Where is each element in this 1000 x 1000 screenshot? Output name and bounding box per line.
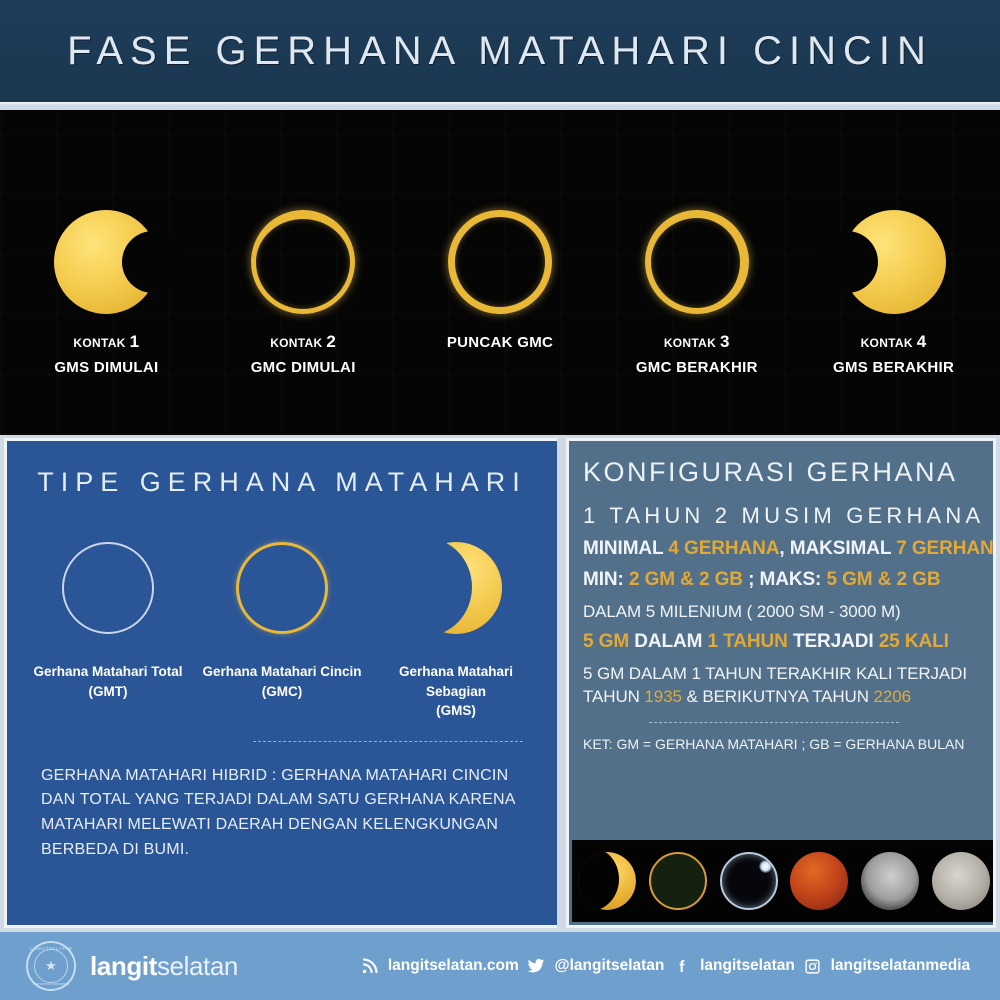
phase-kontak-label-2: KONTAK bbox=[270, 336, 322, 350]
langitselatan-seal-logo: LANGITSELATAN ★ Astronomi Indonesia bbox=[26, 941, 76, 991]
config-line-season: 1 TAHUN 2 MUSIM GERHANA bbox=[583, 502, 993, 530]
phase-kontak-label-3: KONTAK bbox=[664, 336, 716, 350]
phase-item-5: KONTAK 4 GMS BERAKHIR bbox=[804, 110, 984, 378]
total-lunar-blood-moon-photo bbox=[790, 852, 848, 910]
brand-name-light: selatan bbox=[157, 951, 238, 981]
annular-ring-icon-2 bbox=[645, 210, 749, 314]
phase-label-4: KONTAK 3 GMC BERAKHIR bbox=[636, 330, 758, 378]
facebook-icon bbox=[672, 957, 691, 976]
minmax-prefix-2: , MAKSIMAL bbox=[779, 538, 896, 559]
social-links: langitselatan.com @langitselatan langits… bbox=[356, 957, 974, 976]
type-item-gms: Gerhana Matahari Sebagian (GMS) bbox=[374, 542, 539, 721]
line5gm-gold-3: 25 KALI bbox=[879, 631, 949, 652]
minmax-gold-2: 7 GERHANA bbox=[896, 538, 996, 559]
phase-item-2: KONTAK 2 GMC DIMULAI bbox=[213, 110, 393, 378]
partial-sun-bite-left-icon bbox=[842, 210, 946, 314]
instagram-icon bbox=[803, 957, 822, 976]
minmaks-prefix-1: MIN: bbox=[583, 569, 629, 590]
solar-crescent-photo bbox=[578, 852, 636, 910]
middle-section: TIPE GERHANA MATAHARI Gerhana Matahari T… bbox=[0, 438, 1000, 928]
gold-crescent-icon bbox=[410, 542, 502, 634]
line5gm-prefix-1: DALAM bbox=[629, 631, 707, 652]
type-name-gms: Gerhana Matahari Sebagian bbox=[399, 664, 513, 699]
hybrid-note: GERHANA MATAHARI HIBRID : GERHANA MATAHA… bbox=[7, 742, 557, 863]
phase-kontak-label-1: KONTAK bbox=[73, 336, 125, 350]
config-panel-divider bbox=[649, 722, 899, 723]
annular-ring-photo bbox=[649, 852, 707, 910]
phase-item-4: KONTAK 3 GMC BERAKHIR bbox=[607, 110, 787, 378]
type-label-gms: Gerhana Matahari Sebagian (GMS) bbox=[374, 662, 539, 721]
social-label-website: langitselatan.com bbox=[388, 957, 519, 975]
line5gm-gold-2: 1 TAHUN bbox=[708, 631, 788, 652]
type-abbr-gms: (GMS) bbox=[436, 703, 476, 718]
phase-kontak-num-1: 1 bbox=[130, 332, 140, 351]
brand-block: LANGITSELATAN ★ Astronomi Indonesia lang… bbox=[26, 941, 356, 991]
phase-desc-3: PUNCAK GMC bbox=[447, 332, 553, 354]
social-link-facebook[interactable]: langitselatan bbox=[672, 957, 795, 976]
eclipse-config-panel: KONFIGURASI GERHANA 1 TAHUN 2 MUSIM GERH… bbox=[566, 438, 996, 928]
phase-label-5: KONTAK 4 GMS BERAKHIR bbox=[833, 330, 954, 378]
seal-top-text: LANGITSELATAN bbox=[28, 946, 74, 951]
social-label-facebook: langitselatan bbox=[700, 957, 795, 975]
type-name-gmt: Gerhana Matahari Total bbox=[33, 664, 182, 679]
config-line-terakhir-1: 5 GM DALAM 1 TAHUN TERAKHIR KALI TERJADI bbox=[583, 663, 993, 685]
seal-bottom-text: Astronomi Indonesia bbox=[28, 981, 74, 986]
partial-sun-bite-right-icon bbox=[54, 210, 158, 314]
phase-kontak-label-4: KONTAK bbox=[861, 336, 913, 350]
phase-desc-1: GMS DIMULAI bbox=[54, 357, 158, 379]
minmaks-gold-1: 2 GM & 2 GB bbox=[629, 569, 743, 590]
infographic-poster: FASE GERHANA MATAHARI CINCIN KONTAK 1 GM… bbox=[0, 0, 1000, 1000]
minmax-gold-1: 4 GERHANA bbox=[668, 538, 779, 559]
phase-label-2: KONTAK 2 GMC DIMULAI bbox=[251, 330, 356, 378]
eclipse-photo-strip bbox=[572, 840, 996, 922]
twitter-icon bbox=[527, 957, 546, 976]
phase-label-3: PUNCAK GMC bbox=[447, 330, 553, 354]
social-label-instagram: langitselatanmedia bbox=[831, 957, 971, 975]
type-abbr-gmt: (GMT) bbox=[89, 684, 128, 699]
brand-name-bold: langit bbox=[90, 951, 157, 981]
phase-kontak-num-3: 3 bbox=[720, 332, 730, 351]
type-label-gmt: Gerhana Matahari Total (GMT) bbox=[33, 662, 182, 701]
phase-item-3: PUNCAK GMC bbox=[410, 110, 590, 354]
types-panel-heading: TIPE GERHANA MATAHARI bbox=[7, 467, 557, 498]
config-panel-heading: KONFIGURASI GERHANA bbox=[583, 457, 993, 488]
brand-name: langitselatan bbox=[90, 951, 238, 982]
config-line-minmax: MINIMAL 4 GERHANA, MAKSIMAL 7 GERHANA bbox=[583, 537, 993, 561]
footer-bar: LANGITSELATAN ★ Astronomi Indonesia lang… bbox=[0, 932, 1000, 1000]
type-item-gmc: Gerhana Matahari Cincin (GMC) bbox=[200, 542, 365, 701]
phase-label-1: KONTAK 1 GMS DIMULAI bbox=[54, 330, 158, 378]
phase-item-1: KONTAK 1 GMS DIMULAI bbox=[16, 110, 196, 378]
annular-ring-full-icon bbox=[448, 210, 552, 314]
minmaks-prefix-2: ; MAKS: bbox=[743, 569, 827, 590]
line5gm-prefix-2: TERJADI bbox=[788, 631, 879, 652]
rss-icon bbox=[360, 957, 379, 976]
gold-ring-icon bbox=[236, 542, 328, 634]
config-line-5gm: 5 GM DALAM 1 TAHUN TERJADI 25 KALI bbox=[583, 630, 993, 654]
terakhir-prefix-2: & BERIKUTNYA TAHUN bbox=[682, 687, 874, 706]
header-divider bbox=[0, 102, 1000, 106]
type-abbr-gmc: (GMC) bbox=[262, 684, 303, 699]
terakhir-gold-2: 2206 bbox=[874, 687, 911, 706]
line5gm-gold-1: 5 GM bbox=[583, 631, 629, 652]
config-line-milenium: DALAM 5 MILENIUM ( 2000 SM - 3000 M) bbox=[583, 601, 993, 623]
minmaks-gold-2: 5 GM & 2 GB bbox=[826, 569, 940, 590]
config-legend-note: KET: GM = GERHANA MATAHARI ; GB = GERHAN… bbox=[583, 736, 993, 752]
terakhir-prefix-1: TAHUN bbox=[583, 687, 644, 706]
seal-inner-emblem: ★ bbox=[34, 949, 68, 983]
eclipse-phases-section: KONTAK 1 GMS DIMULAI KONTAK 2 GMC DIMULA… bbox=[0, 110, 1000, 435]
config-line-terakhir-2: TAHUN 1935 & BERIKUTNYA TAHUN 2206 bbox=[583, 686, 993, 708]
types-list: Gerhana Matahari Total (GMT) Gerhana Mat… bbox=[7, 542, 557, 721]
annular-ring-icon bbox=[251, 210, 355, 314]
dark-disc-outline-icon bbox=[62, 542, 154, 634]
terakhir-gold-1: 1935 bbox=[644, 687, 681, 706]
phase-kontak-num-4: 4 bbox=[917, 332, 927, 351]
type-label-gmc: Gerhana Matahari Cincin (GMC) bbox=[202, 662, 361, 701]
social-link-instagram[interactable]: langitselatanmedia bbox=[803, 957, 971, 976]
diamond-ring-corona-photo bbox=[720, 852, 778, 910]
phase-desc-4: GMC BERAKHIR bbox=[636, 357, 758, 379]
minmax-prefix-1: MINIMAL bbox=[583, 538, 668, 559]
partial-lunar-eclipse-photo bbox=[861, 852, 919, 910]
phase-desc-5: GMS BERAKHIR bbox=[833, 357, 954, 379]
phase-desc-2: GMC DIMULAI bbox=[251, 357, 356, 379]
social-link-website[interactable]: langitselatan.com bbox=[360, 957, 519, 976]
config-line-minmaks: MIN: 2 GM & 2 GB ; MAKS: 5 GM & 2 GB bbox=[583, 568, 993, 592]
phase-kontak-num-2: 2 bbox=[326, 332, 336, 351]
eclipse-types-panel: TIPE GERHANA MATAHARI Gerhana Matahari T… bbox=[4, 438, 557, 928]
type-name-gmc: Gerhana Matahari Cincin bbox=[202, 664, 361, 679]
type-item-gmt: Gerhana Matahari Total (GMT) bbox=[26, 542, 191, 701]
page-title: FASE GERHANA MATAHARI CINCIN bbox=[67, 29, 933, 74]
header-banner: FASE GERHANA MATAHARI CINCIN bbox=[0, 0, 1000, 102]
full-moon-photo bbox=[932, 852, 990, 910]
social-link-twitter[interactable]: @langitselatan bbox=[527, 957, 665, 976]
social-label-twitter: @langitselatan bbox=[555, 957, 665, 975]
